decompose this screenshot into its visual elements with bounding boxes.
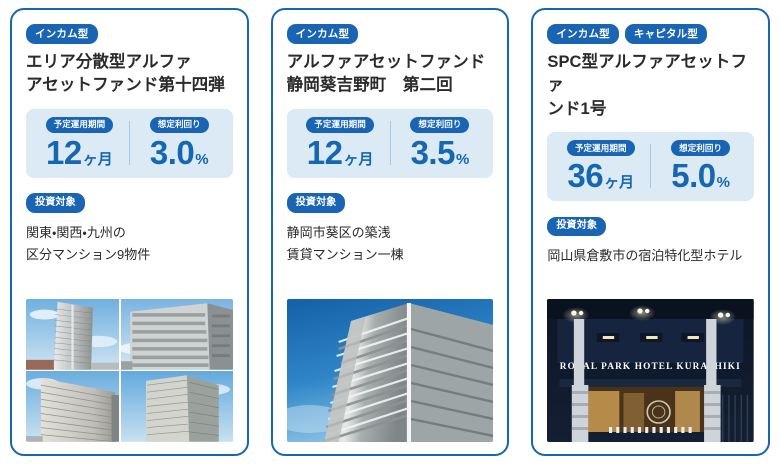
stat-period-unit: ヶ月	[83, 152, 113, 167]
fund-card-list: インカム型 エリア分散型アルファ アセットファンド第十四弾 予定運用期間 12 …	[0, 0, 780, 468]
stat-period: 予定運用期間 12 ヶ月	[291, 117, 390, 169]
fund-card[interactable]: インカム型 アルファアセットファンド 静岡葵吉野町 第二回 予定運用期間 12 …	[271, 8, 510, 456]
stat-yield-unit: %	[195, 152, 208, 167]
fund-title: SPC型アルファアセットファ ンド1号	[547, 51, 754, 121]
investment-target-section: 投資対象 静岡市葵区の築浅 賃貸マンション一棟	[287, 192, 494, 277]
stat-period-value: 36 ヶ月	[567, 159, 634, 192]
investment-target-label: 投資対象	[26, 193, 85, 213]
stat-yield-value: 3.5 %	[411, 136, 470, 169]
property-photo: ROYAL PARK HOTEL KURASHIKI	[547, 299, 754, 442]
stat-yield: 想定利回り 3.0 %	[130, 117, 229, 169]
stat-yield: 想定利回り 3.5 %	[391, 117, 490, 169]
fund-type-badge-secondary: キャピタル型	[625, 24, 707, 44]
fund-title: エリア分散型アルファ アセットファンド第十四弾	[26, 51, 233, 98]
badge-row: インカム型	[287, 24, 494, 44]
stat-period-label: 予定運用期間	[306, 117, 374, 133]
stat-period-number: 12	[46, 136, 82, 169]
investment-target-text: 関東・関西・九州の 区分マンション9物件	[26, 222, 233, 267]
fund-type-badge: インカム型	[547, 24, 619, 44]
stat-period-label: 予定運用期間	[567, 140, 635, 156]
stat-period: 予定運用期間 12 ヶ月	[30, 117, 129, 169]
stat-yield-unit: %	[717, 175, 730, 190]
fund-card[interactable]: インカム型 エリア分散型アルファ アセットファンド第十四弾 予定運用期間 12 …	[10, 8, 249, 456]
fund-card[interactable]: インカム型 キャピタル型 SPC型アルファアセットファ ンド1号 予定運用期間 …	[531, 8, 770, 456]
investment-target-label: 投資対象	[287, 193, 346, 213]
stat-period-label: 予定運用期間	[46, 117, 114, 133]
stat-period-unit: ヶ月	[604, 175, 634, 190]
investment-target-text: 岡山県倉敷市の宿泊特化型ホテル	[547, 245, 754, 267]
stat-period-number: 36	[567, 159, 603, 192]
stat-period: 予定運用期間 36 ヶ月	[551, 140, 650, 192]
property-photo-apartment-building-blue-sky	[287, 299, 494, 442]
stat-period-value: 12 ヶ月	[307, 136, 374, 169]
property-photo-mid-rise-apartment-balconies	[121, 299, 233, 370]
investment-target-section: 投資対象 関東・関西・九州の 区分マンション9物件	[26, 192, 233, 277]
property-photo-collage	[26, 299, 233, 442]
fund-type-badge: インカム型	[26, 24, 98, 44]
stat-yield-unit: %	[456, 152, 469, 167]
fund-stats-panel: 予定運用期間 36 ヶ月 想定利回り 5.0 %	[547, 132, 754, 201]
fund-stats-panel: 予定運用期間 12 ヶ月 想定利回り 3.0 %	[26, 109, 233, 178]
stat-yield-label: 想定利回り	[150, 117, 209, 133]
stat-period-number: 12	[307, 136, 343, 169]
stat-yield-value: 5.0 %	[671, 159, 730, 192]
stat-yield-number: 5.0	[671, 159, 715, 192]
badge-row: インカム型	[26, 24, 233, 44]
collage-grid	[26, 299, 233, 442]
stat-period-unit: ヶ月	[343, 152, 373, 167]
fund-title: アルファアセットファンド 静岡葵吉野町 第二回	[287, 51, 494, 98]
stat-period-value: 12 ヶ月	[46, 136, 113, 169]
property-photo-apartment-corner-blue-sky	[121, 371, 233, 442]
investment-target-section: 投資対象 岡山県倉敷市の宿泊特化型ホテル	[547, 215, 754, 277]
stat-yield: 想定利回り 5.0 %	[651, 140, 750, 192]
stat-yield-value: 3.0 %	[150, 136, 209, 169]
investment-target-label: 投資対象	[547, 217, 606, 237]
fund-stats-panel: 予定運用期間 12 ヶ月 想定利回り 3.5 %	[287, 109, 494, 178]
property-photo-tall-apartment-upward-view	[26, 371, 119, 442]
property-photo	[287, 299, 494, 442]
investment-target-text: 静岡市葵区の築浅 賃貸マンション一棟	[287, 222, 494, 267]
stat-yield-label: 想定利回り	[410, 117, 469, 133]
property-photo-royal-park-hotel-kurashiki-night: ROYAL PARK HOTEL KURASHIKI	[547, 299, 754, 442]
stat-yield-number: 3.0	[150, 136, 194, 169]
stat-yield-number: 3.5	[411, 136, 455, 169]
fund-type-badge: インカム型	[287, 24, 359, 44]
stat-yield-label: 想定利回り	[671, 140, 730, 156]
property-photo-high-rise-tower-daytime	[26, 299, 119, 370]
badge-row: インカム型 キャピタル型	[547, 24, 754, 44]
